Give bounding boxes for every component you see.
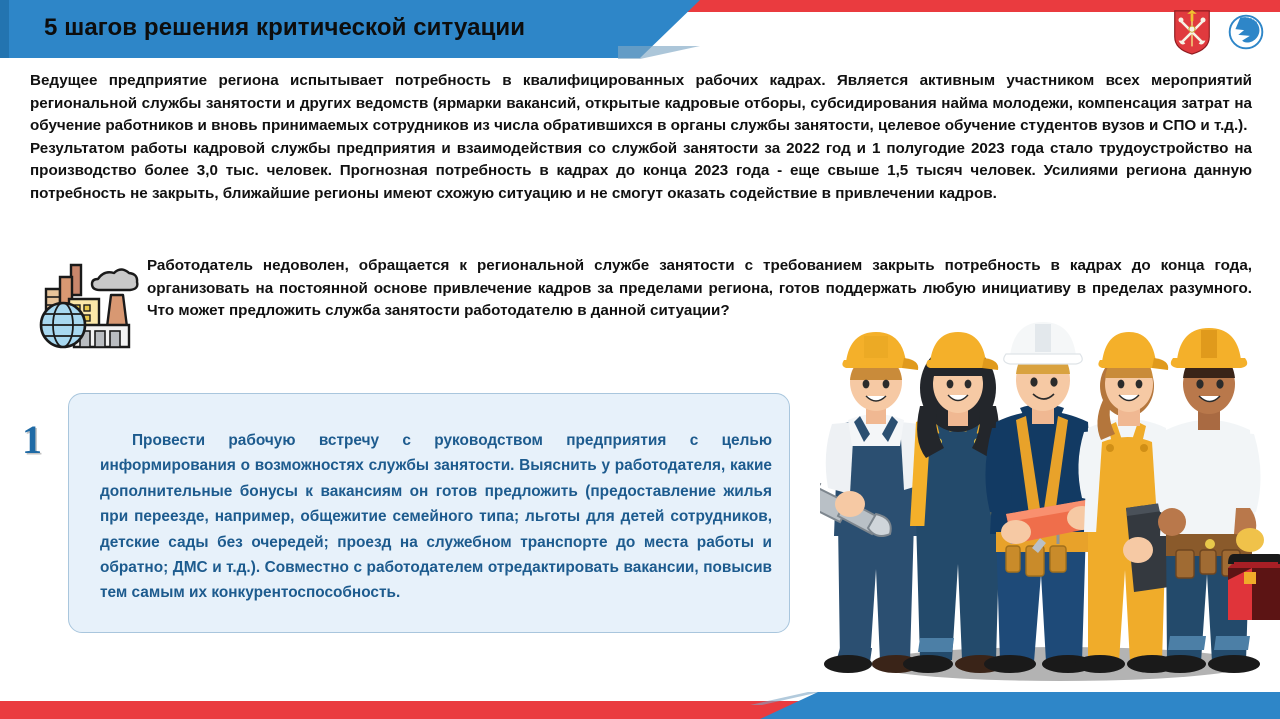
page-title: 5 шагов решения критической ситуации	[44, 14, 525, 42]
spb-coat-of-arms-icon	[1170, 8, 1214, 56]
slide-footer	[0, 689, 1280, 719]
intro-text-block: Ведущее предприятие региона испытывает п…	[30, 70, 1252, 206]
footer-red-stripe	[0, 701, 860, 719]
paragraph-2: Результатом работы кадровой службы предп…	[30, 138, 1252, 206]
step-number: 1	[22, 416, 42, 463]
factory-industry-icon	[36, 257, 141, 353]
header-left-edge-accent	[0, 0, 9, 58]
employment-service-bird-icon	[1224, 8, 1268, 56]
paragraph-1: Ведущее предприятие региона испытывает п…	[30, 70, 1252, 138]
step-description: Провести рабочую встречу с руководством …	[100, 428, 772, 606]
five-construction-workers-illustration	[820, 296, 1280, 688]
worker-3	[984, 322, 1099, 673]
header-banner-shadow	[618, 46, 700, 59]
toolbox-red	[1228, 554, 1280, 620]
slide-header: 5 шагов решения критической ситуации	[0, 0, 1280, 64]
worker-5	[1154, 328, 1280, 673]
logo-group	[1170, 8, 1268, 56]
slide-root: 5 шагов решения критической ситуации	[0, 0, 1280, 719]
worker-1	[820, 332, 926, 673]
footer-blue-banner	[760, 692, 1280, 719]
